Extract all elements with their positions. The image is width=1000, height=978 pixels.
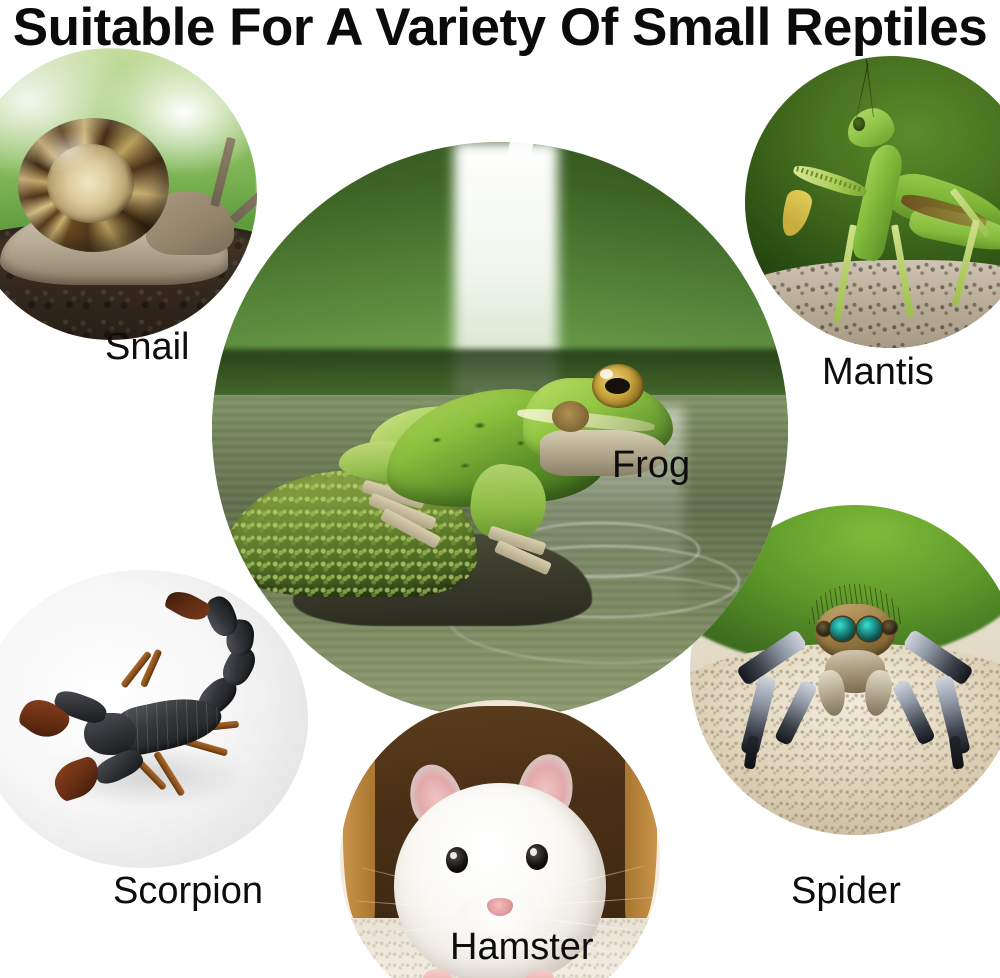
hamster-eye: [446, 847, 468, 873]
label-scorpion: Scorpion: [113, 869, 263, 913]
label-snail: Snail: [105, 325, 190, 369]
spider-lateral-eye: [882, 621, 897, 635]
hamster-tube-rim-left: [343, 745, 375, 924]
mantis-eye: [853, 117, 865, 130]
hamster-eye: [526, 844, 548, 870]
label-frog: Frog: [612, 443, 690, 487]
label-mantis: Mantis: [822, 350, 934, 394]
label-hamster: Hamster: [450, 925, 594, 969]
infographic-page: Suitable For A Variety Of Small Reptiles: [0, 0, 1000, 978]
page-title: Suitable For A Variety Of Small Reptiles: [0, 0, 1000, 58]
label-spider: Spider: [791, 869, 901, 913]
spider-principal-eye: [857, 617, 882, 641]
spider-lateral-eye: [817, 622, 832, 636]
frog-photo: [212, 142, 788, 718]
